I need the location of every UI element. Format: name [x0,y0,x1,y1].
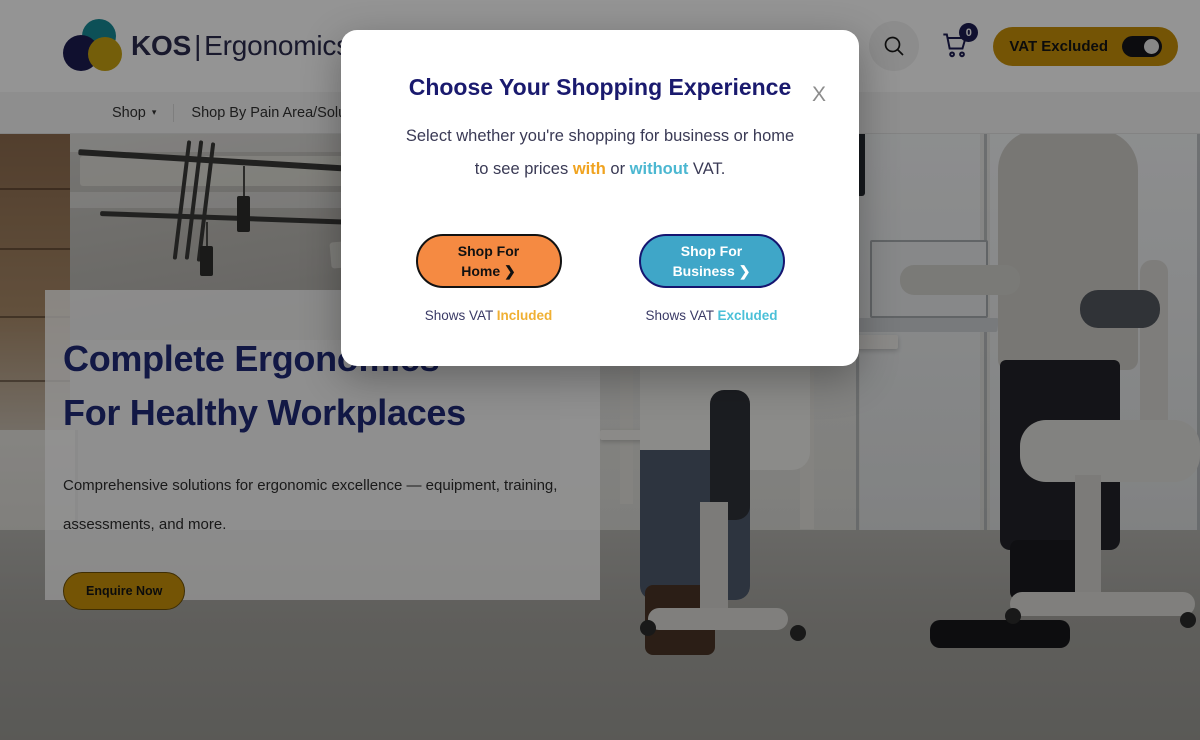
subtitle-or: or [606,160,630,178]
modal-subtitle-line-1: Select whether you're shopping for busin… [381,120,819,153]
subtitle-suffix: VAT. [688,160,725,178]
shop-for-home-line-2: Home ❯ [461,261,516,281]
shop-for-home-button[interactable]: Shop For Home ❯ [416,234,562,288]
choice-home: Shop For Home ❯ Shows VAT Included [416,234,562,323]
home-vat-note-value: Included [497,308,553,323]
home-vat-note-prefix: Shows VAT [425,308,497,323]
page-root: Complete Ergonomics For Healthy Workplac… [0,0,1200,740]
business-vat-note: Shows VAT Excluded [639,308,785,323]
close-x-icon[interactable]: X [812,84,826,105]
modal-subtitle: Select whether you're shopping for busin… [341,120,859,186]
home-vat-note: Shows VAT Included [416,308,562,323]
business-vat-note-prefix: Shows VAT [645,308,717,323]
shop-for-home-line-1: Shop For [458,241,519,261]
shop-for-business-button[interactable]: Shop For Business ❯ [639,234,785,288]
shop-for-business-line-2: Business ❯ [673,261,751,281]
shopping-experience-modal: X Choose Your Shopping Experience Select… [341,30,859,366]
choice-business: Shop For Business ❯ Shows VAT Excluded [639,234,785,323]
shopping-choice-group: Shop For Home ❯ Shows VAT Included Shop … [341,234,859,323]
modal-subtitle-line-2: to see prices with or without VAT. [381,153,819,186]
business-vat-note-value: Excluded [718,308,778,323]
subtitle-with-highlight: with [573,160,606,178]
shop-for-business-line-1: Shop For [681,241,742,261]
subtitle-prefix: to see prices [475,160,573,178]
modal-title: Choose Your Shopping Experience [341,74,859,101]
subtitle-without-highlight: without [630,160,689,178]
